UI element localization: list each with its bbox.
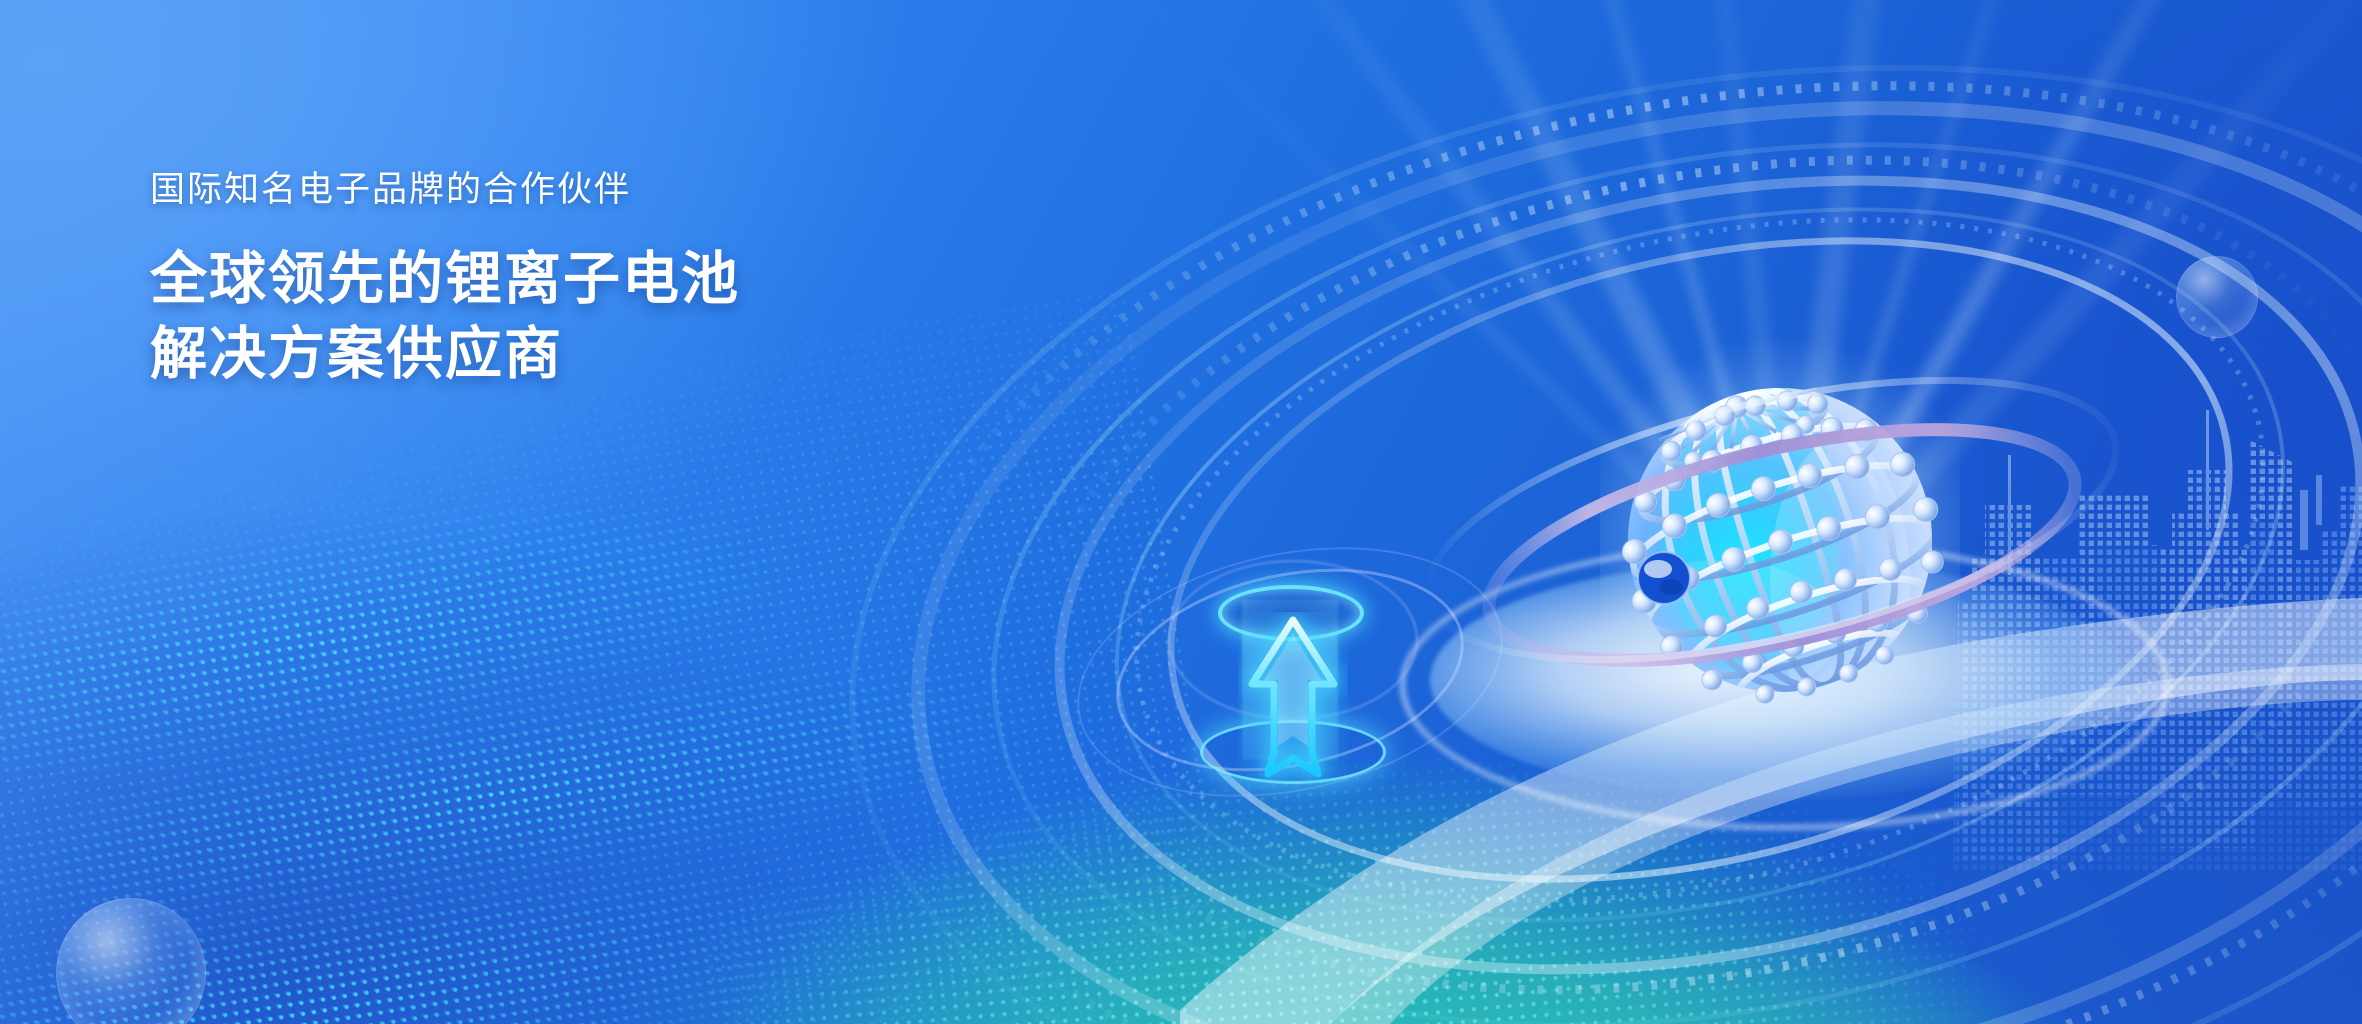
- teal-gradient-wedge-secondary: [0, 0, 2362, 1024]
- bubble-top-right: [2176, 256, 2258, 338]
- background-deep-shading: [0, 0, 2362, 1024]
- banner-copy: 国际知名电子品牌的合作伙伴 全球领先的锂离子电池 解决方案供应商: [150, 168, 1050, 392]
- banner-title-line-1: 全球领先的锂离子电池: [150, 242, 1050, 317]
- tech-arc-rings: [0, 0, 2362, 1024]
- halftone-dot-field-faint: [0, 287, 1242, 1024]
- hero-banner: 国际知名电子品牌的合作伙伴 全球领先的锂离子电池 解决方案供应商: [0, 0, 2362, 1024]
- banner-title: 全球领先的锂离子电池 解决方案供应商: [150, 242, 1050, 392]
- banner-title-line-2: 解决方案供应商: [150, 317, 1050, 392]
- teal-gradient-wedge: [0, 0, 2362, 1024]
- globe-orbit-ring: [0, 0, 2362, 1024]
- up-arrow-icon: [1238, 612, 1348, 782]
- city-skyline: [0, 0, 2362, 1024]
- halftone-dot-field-bottom: [685, 587, 2362, 1024]
- bubble-bottom-left: [56, 898, 206, 1024]
- wireframe-globe-icon: [1600, 330, 1960, 750]
- banner-subtitle: 国际知名电子品牌的合作伙伴: [150, 168, 1050, 212]
- background-gradient: [0, 0, 2362, 1024]
